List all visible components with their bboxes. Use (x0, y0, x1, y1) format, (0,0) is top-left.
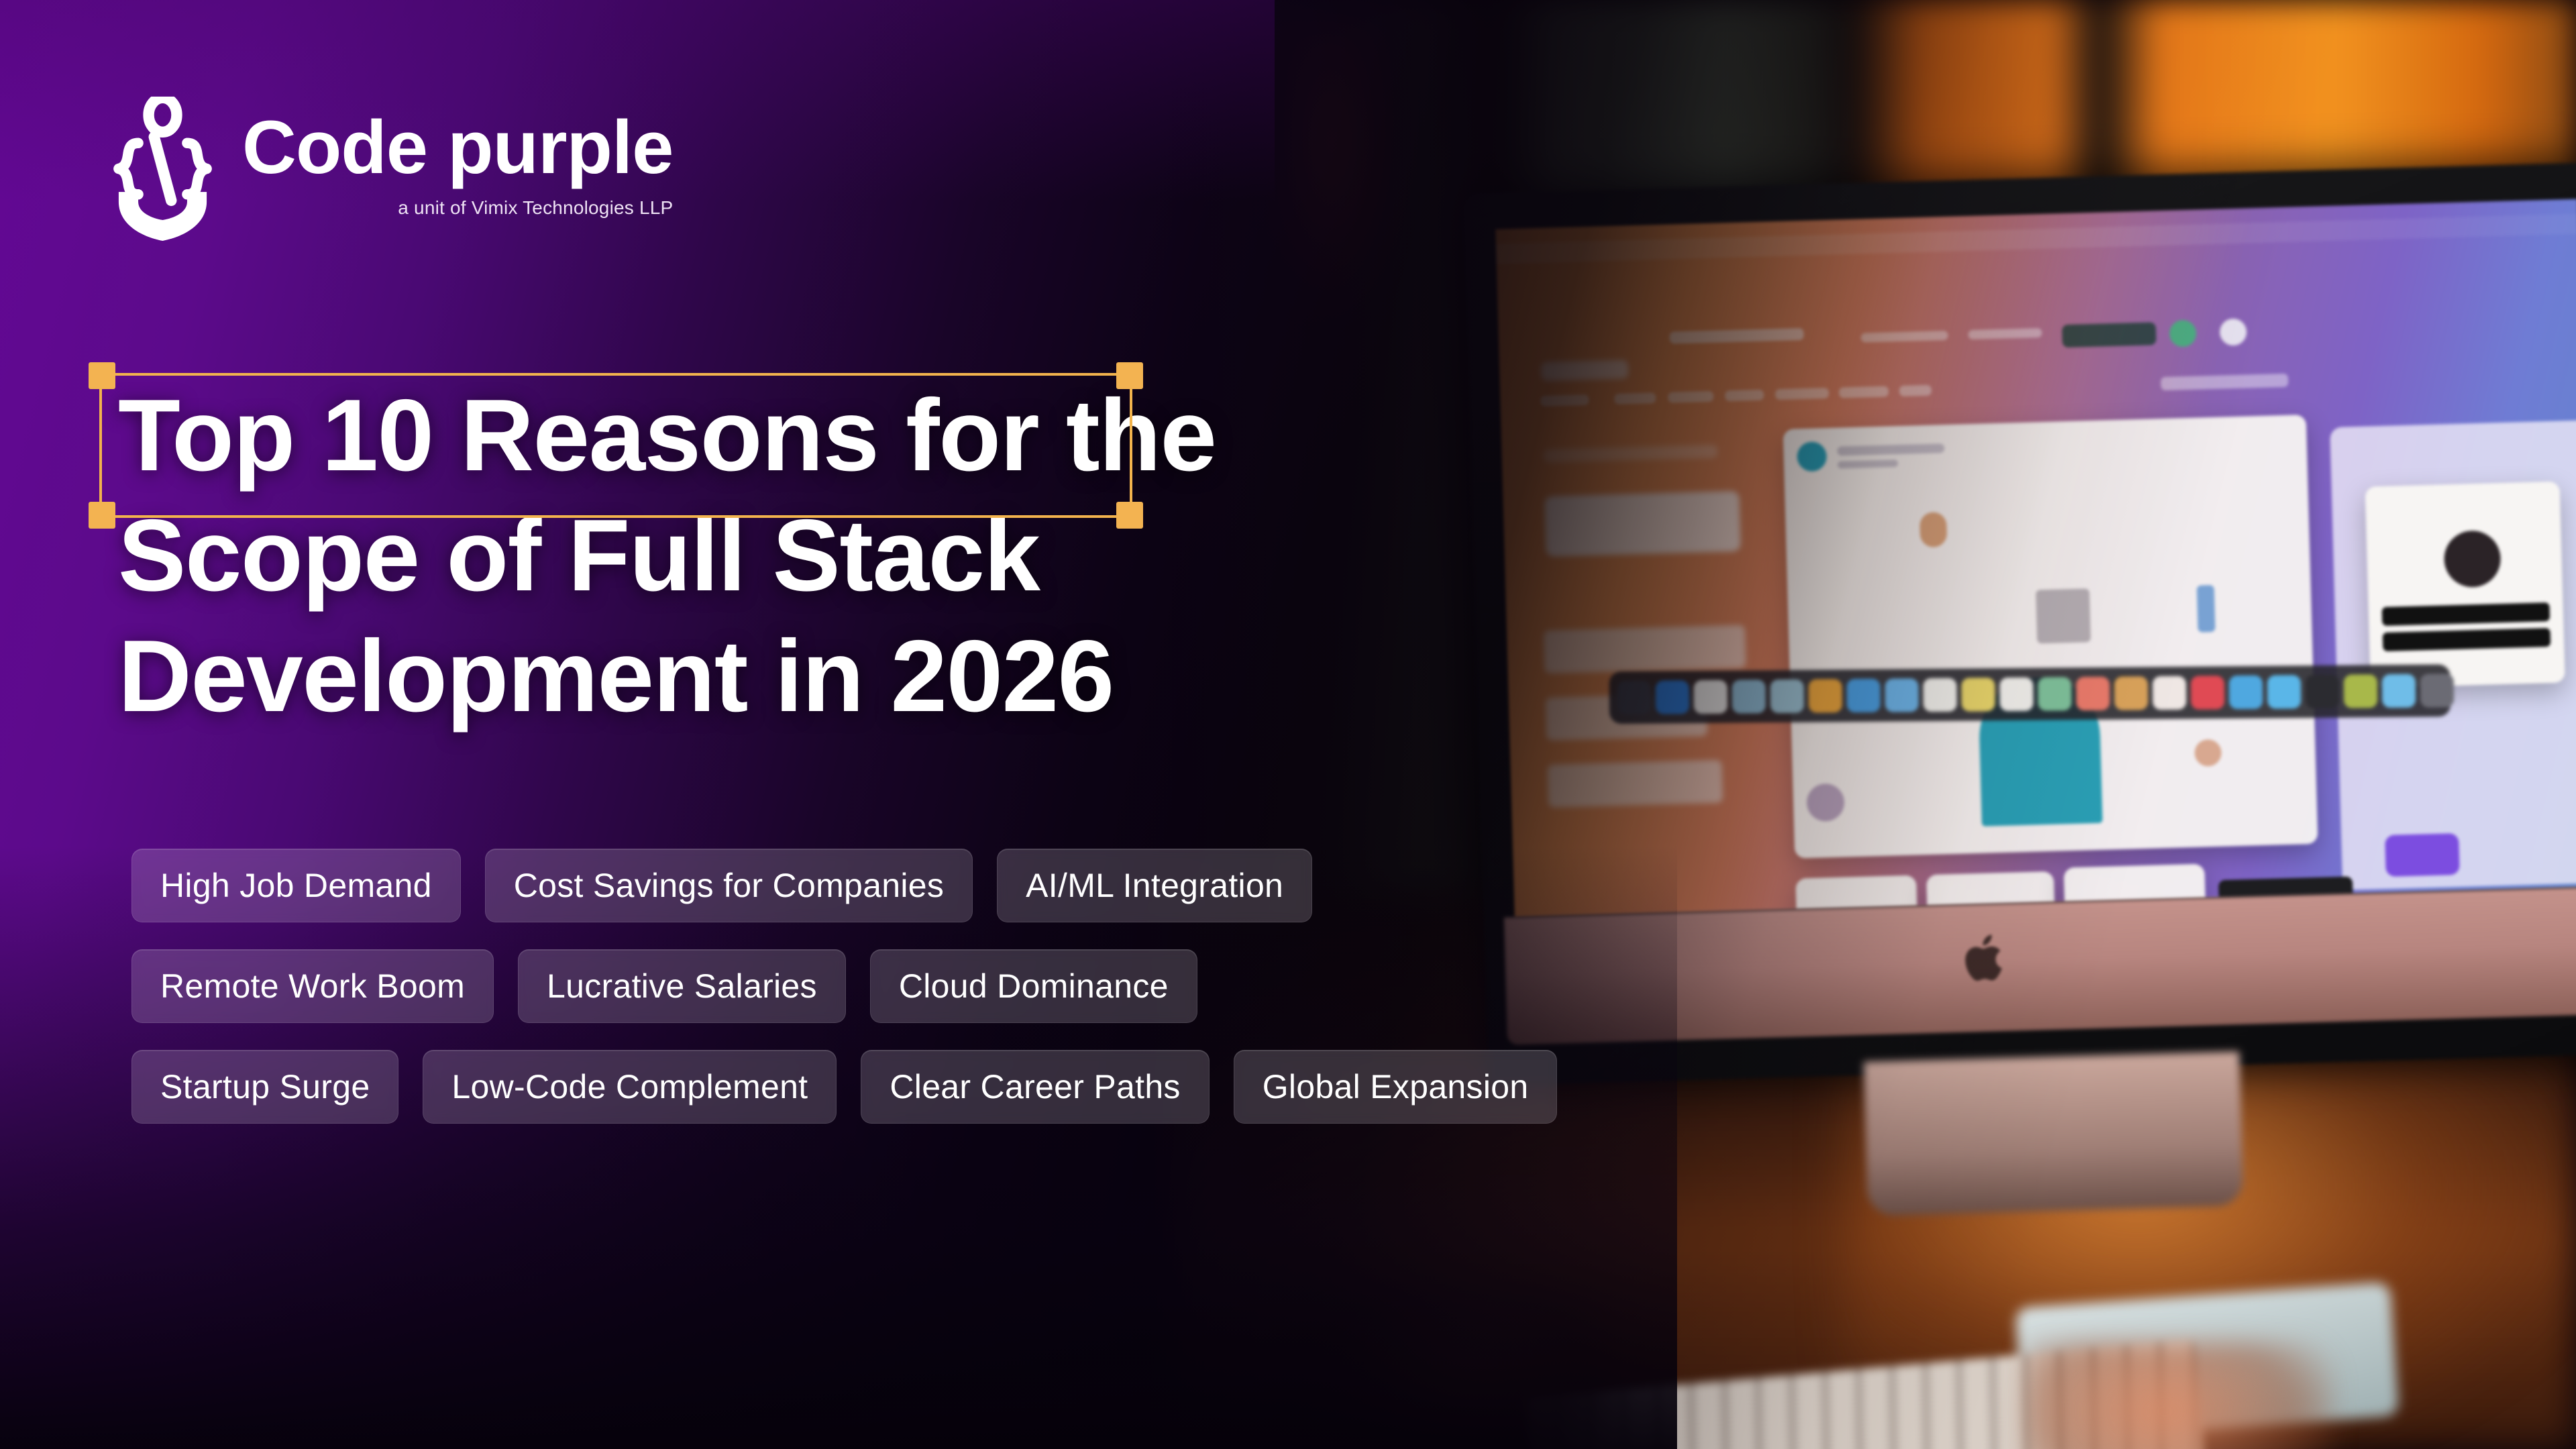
tag-lucrative-salaries[interactable]: Lucrative Salaries (518, 949, 846, 1023)
resize-handle-top-left[interactable] (89, 362, 115, 389)
headline-selected-text[interactable]: Top 10 Reasons (118, 378, 878, 492)
headline-line-2[interactable]: Scope of Full Stack Scope of Full Stack (118, 496, 1661, 616)
tag-row-3: Startup Surge Low-Code Complement Clear … (131, 1050, 1557, 1124)
headline-line-2-text: Scope of Full Stack (118, 498, 1040, 612)
tag-row-1: High Job Demand Cost Savings for Compani… (131, 849, 1557, 922)
headline-line-1[interactable]: Top 10 Reasons for the (118, 376, 1661, 496)
tag-row-2: Remote Work Boom Lucrative Salaries Clou… (131, 949, 1557, 1023)
tag-global-expansion[interactable]: Global Expansion (1234, 1050, 1558, 1124)
tag-startup-surge[interactable]: Startup Surge (131, 1050, 398, 1124)
tag-list: High Job Demand Cost Savings for Compani… (131, 849, 1557, 1150)
headline-line-1-rest: for the (878, 378, 1216, 492)
tag-ai-ml-integration[interactable]: AI/ML Integration (997, 849, 1312, 922)
headline-line-3-text: Development in 2026 (118, 619, 1114, 733)
tag-cloud-dominance[interactable]: Cloud Dominance (870, 949, 1197, 1023)
code-anchor-book-logo-icon (101, 97, 225, 241)
brand-name: Code purple (242, 110, 673, 185)
tag-clear-career-paths[interactable]: Clear Career Paths (861, 1050, 1209, 1124)
headline-line-3[interactable]: Development in 2026 (118, 616, 1661, 737)
headline-block: Top 10 Reasons for the Scope of Full Sta… (118, 376, 1661, 737)
tag-remote-work-boom[interactable]: Remote Work Boom (131, 949, 494, 1023)
poster-content: Code purple a unit of Vimix Technologies… (0, 0, 2576, 1449)
tag-low-code-complement[interactable]: Low-Code Complement (423, 1050, 837, 1124)
brand-logo-block[interactable]: Code purple a unit of Vimix Technologies… (101, 94, 673, 241)
poster-canvas: Code purple a unit of Vimix Technologies… (0, 0, 2576, 1449)
brand-tagline: a unit of Vimix Technologies LLP (242, 197, 673, 219)
tag-high-job-demand[interactable]: High Job Demand (131, 849, 461, 922)
resize-handle-bottom-left[interactable] (89, 502, 115, 529)
brand-text-group: Code purple a unit of Vimix Technologies… (242, 94, 673, 219)
tag-cost-savings-for-companies[interactable]: Cost Savings for Companies (485, 849, 973, 922)
